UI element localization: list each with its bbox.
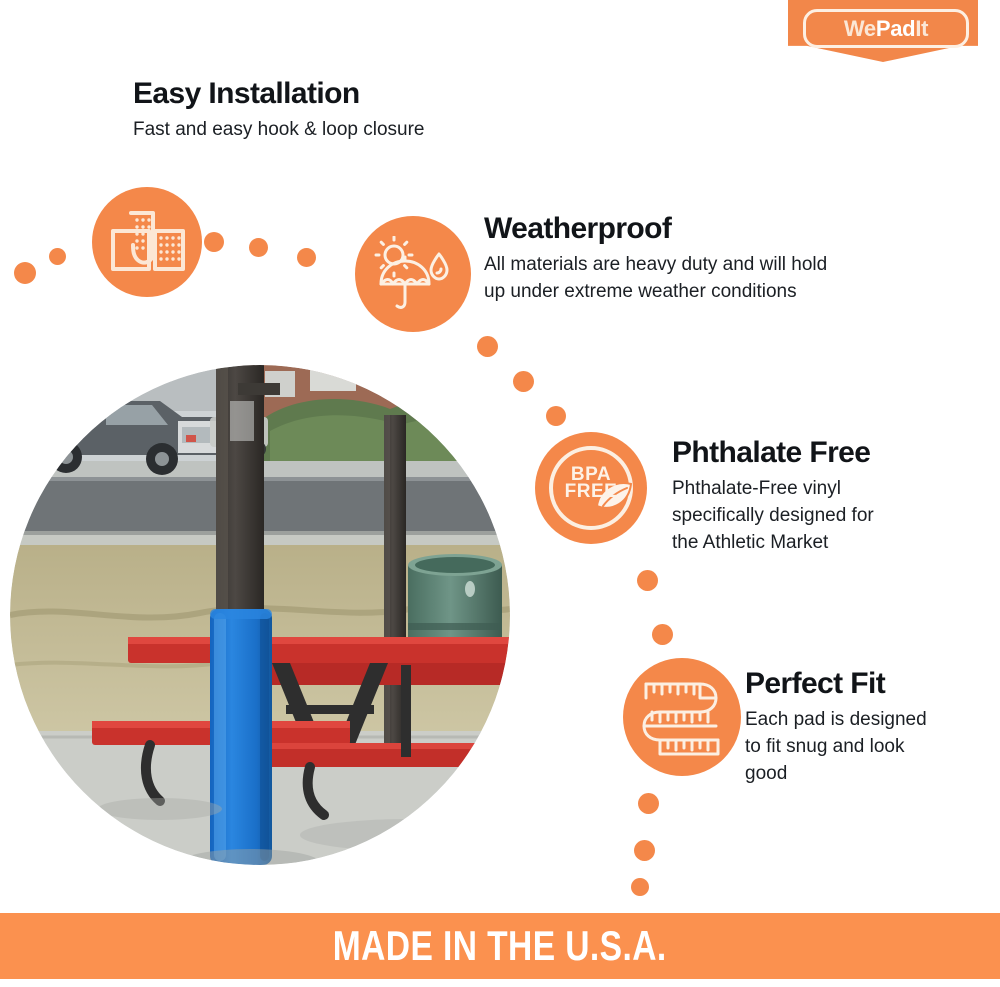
logo-plate: WePadIt bbox=[803, 9, 969, 48]
trail-dot bbox=[204, 232, 224, 252]
trail-dot bbox=[49, 248, 66, 265]
feature-body-line: All materials are heavy duty and will ho… bbox=[484, 252, 827, 279]
bpa-icon-line2: FREE bbox=[535, 483, 647, 500]
feature-text-easy-installation: Easy Installation Fast and easy hook & l… bbox=[133, 78, 425, 144]
feature-body-line: specifically designed for bbox=[672, 503, 874, 530]
made-in-usa-banner: MADE IN THE U.S.A. bbox=[0, 913, 1000, 979]
feature-body: Fast and easy hook & loop closure bbox=[133, 117, 425, 144]
trail-dot bbox=[477, 336, 498, 357]
hook-and-loop-icon bbox=[109, 209, 185, 275]
feature-text-phthalate-free: Phthalate Free Phthalate-Free vinyl spec… bbox=[672, 437, 874, 557]
feature-body-line: Each pad is designed bbox=[745, 707, 927, 734]
feature-body-line: Phthalate-Free vinyl bbox=[672, 476, 874, 503]
trail-dot bbox=[249, 238, 268, 257]
made-in-usa-text: MADE IN THE U.S.A. bbox=[333, 922, 667, 970]
trail-dot bbox=[513, 371, 534, 392]
feature-text-weatherproof: Weatherproof All materials are heavy dut… bbox=[484, 213, 827, 306]
trail-dot bbox=[297, 248, 316, 267]
feature-body-line: Fast and easy hook & loop closure bbox=[133, 117, 425, 144]
feature-body-line: the Athletic Market bbox=[672, 530, 874, 557]
logo-text-it: It bbox=[915, 16, 928, 41]
feature-title: Weatherproof bbox=[484, 213, 827, 245]
feature-title: Perfect Fit bbox=[745, 668, 927, 700]
feature-text-perfect-fit: Perfect Fit Each pad is designed to fit … bbox=[745, 668, 927, 788]
feature-body-line: good bbox=[745, 761, 927, 788]
weatherproof-icon-bubble bbox=[355, 216, 471, 332]
product-photo-illustration bbox=[10, 365, 510, 865]
trail-dot bbox=[546, 406, 566, 426]
product-photo bbox=[10, 365, 510, 865]
feature-body-line: up under extreme weather conditions bbox=[484, 279, 827, 306]
bpa-free-icon-bubble: BPA FREE bbox=[535, 432, 647, 544]
feature-title: Easy Installation bbox=[133, 78, 425, 110]
sun-umbrella-rain-icon bbox=[371, 236, 455, 312]
infographic-canvas: WePadIt Easy Installation Fast and easy … bbox=[0, 0, 1000, 987]
perfect-fit-icon-bubble bbox=[623, 658, 741, 776]
measuring-tape-icon bbox=[638, 676, 726, 758]
trail-dot bbox=[634, 840, 655, 861]
trail-dot bbox=[638, 793, 659, 814]
logo-text-pad: Pad bbox=[876, 16, 915, 41]
feature-body: Each pad is designed to fit snug and loo… bbox=[745, 707, 927, 788]
feature-body-line: to fit snug and look bbox=[745, 734, 927, 761]
trail-dot bbox=[14, 262, 36, 284]
trail-dot bbox=[631, 878, 649, 896]
feature-body: All materials are heavy duty and will ho… bbox=[484, 252, 827, 306]
feature-title: Phthalate Free bbox=[672, 437, 874, 469]
trail-dot bbox=[637, 570, 658, 591]
logo-text: WePadIt bbox=[844, 18, 928, 40]
logo-text-we: We bbox=[844, 16, 876, 41]
hook-and-loop-icon-bubble bbox=[92, 187, 202, 297]
brand-logo: WePadIt bbox=[788, 0, 978, 62]
bpa-free-leaf-icon: BPA FREE bbox=[535, 432, 647, 544]
feature-body: Phthalate-Free vinyl specifically design… bbox=[672, 476, 874, 557]
trail-dot bbox=[652, 624, 673, 645]
